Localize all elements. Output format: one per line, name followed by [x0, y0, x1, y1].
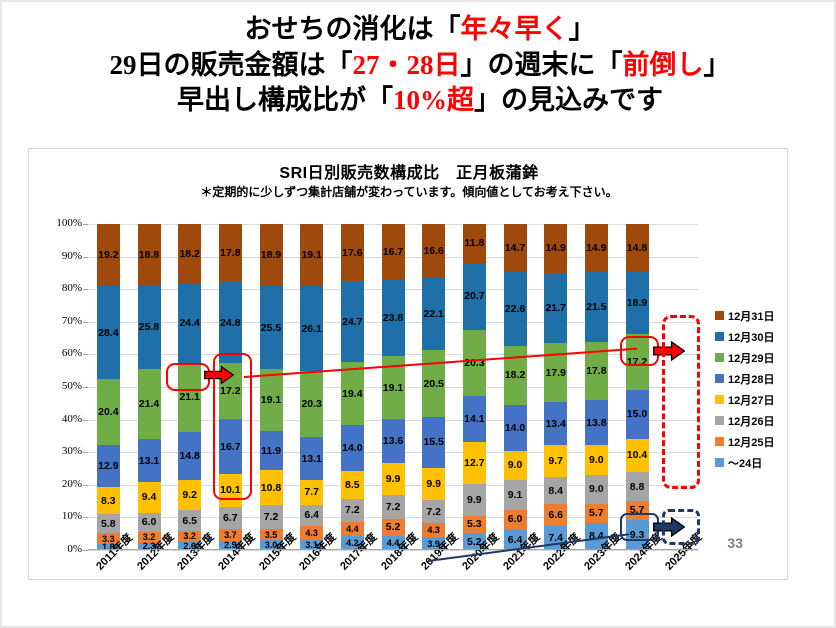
bar-segment: 6.0 — [504, 510, 527, 530]
bar-segment: 5.3 — [463, 516, 486, 533]
legend-item[interactable]: 12月26日 — [715, 410, 789, 431]
bar-segment: 16.7 — [382, 224, 405, 278]
legend-swatch — [715, 311, 724, 320]
bar-segment-value: 24.4 — [179, 317, 199, 329]
bar-segment-value: 6.7 — [223, 512, 238, 524]
bar-segment-value: 6.6 — [548, 509, 563, 521]
bar-segment-value: 10.8 — [261, 482, 281, 494]
bar-segment-value: 12.9 — [98, 460, 118, 472]
bar-segment: 8.4 — [544, 477, 567, 504]
bar-segment: 17.8 — [219, 224, 242, 282]
stacked-bar[interactable]: 18.925.519.111.910.87.23.53.0 — [260, 224, 283, 550]
chart-subtitle: ＊定期的に少しずつ集計店舗が変わっています。傾向値としてお考え下さい。 — [29, 183, 789, 200]
bar-segment-value: 14.9 — [545, 242, 565, 254]
bar-segment: 21.4 — [138, 369, 161, 439]
bar-segment-value: 13.1 — [139, 455, 159, 467]
legend-item[interactable]: 12月30日 — [715, 326, 789, 347]
bar-segment: 14.0 — [341, 425, 364, 471]
bar-segment-value: 9.9 — [426, 478, 441, 490]
bar-segment: 24.8 — [219, 282, 242, 363]
bar-segment-value: 9.4 — [142, 491, 157, 503]
headline-line-1: おせちの消化は「年々早く」 — [2, 12, 836, 48]
bar-segment-value: 19.1 — [301, 249, 321, 261]
bar-segment-value: 10.4 — [627, 449, 647, 461]
y-axis-tick-label: 30% — [36, 445, 82, 457]
bar-segment-value: 16.7 — [383, 246, 403, 258]
bar-segment-value: 14.9 — [586, 242, 606, 254]
stacked-bar[interactable]: 17.624.719.414.08.57.24.44.2 — [341, 224, 364, 550]
bar-segment-value: 9.2 — [182, 489, 197, 501]
bar-segment: 5.7 — [585, 504, 608, 523]
bar-segment-value: 9.9 — [467, 494, 482, 506]
bar-segment-value: 17.8 — [586, 365, 606, 377]
bar-segment: 28.4 — [97, 286, 120, 379]
bar-segment: 22.1 — [422, 278, 445, 350]
bar-segment-value: 7.2 — [264, 511, 279, 523]
bar-segment: 14.9 — [544, 224, 567, 273]
y-axis-tick-mark — [83, 550, 88, 551]
forecast-2025-lower — [662, 509, 700, 544]
y-axis-tick-mark — [83, 224, 88, 225]
headline-line-2-part-a: 29日の販売金額は「 — [110, 50, 353, 80]
bar-segment-value: 9.0 — [589, 454, 604, 466]
bar-segment-value: 19.2 — [98, 249, 118, 261]
bar-segment-value: 14.1 — [464, 413, 484, 425]
legend-swatch — [715, 395, 724, 404]
bar-segment-value: 7.7 — [304, 486, 319, 498]
bar-segment-value: 19.4 — [342, 388, 362, 400]
bar-segment: 15.0 — [626, 390, 649, 439]
legend-label: ～24日 — [728, 455, 762, 471]
bar-segment-value: 7.2 — [345, 504, 360, 516]
headline-line-2-part-e: 」 — [704, 50, 731, 80]
stacked-bar[interactable]: 16.622.120.515.59.97.24.33.9 — [422, 224, 445, 550]
chart-panel: SRI日別販売数構成比 正月板蒲鉾 ＊定期的に少しずつ集計店舗が変わっています。… — [28, 148, 788, 580]
bar-segment: 15.5 — [422, 417, 445, 468]
y-axis-tick-label: 100% — [36, 217, 82, 229]
stacked-bar[interactable]: 14.722.618.214.09.09.16.06.4 — [504, 224, 527, 550]
legend-swatch — [715, 353, 724, 362]
legend-item[interactable]: ～24日 — [715, 452, 789, 473]
headline-line-3-accent: 10%超 — [393, 85, 474, 115]
bar-segment-value: 13.8 — [586, 417, 606, 429]
bar-segment: 13.8 — [585, 400, 608, 445]
headline-line-1-part-a: おせちの消化は「 — [245, 14, 461, 44]
chart-legend: 12月31日12月30日12月29日12月28日12月27日12月26日12月2… — [715, 305, 789, 473]
bar-segment: 8.3 — [97, 487, 120, 514]
y-axis-tick-mark — [83, 354, 88, 355]
stacked-bar[interactable]: 14.921.517.813.89.09.05.78.4 — [585, 224, 608, 550]
bar-segment-value: 6.5 — [182, 515, 197, 527]
stacked-bar[interactable]: 19.228.420.412.98.35.83.31.8 — [97, 224, 120, 550]
legend-swatch — [715, 458, 724, 467]
bar-segment-value: 6.4 — [304, 509, 319, 521]
legend-label: 12月31日 — [728, 308, 774, 324]
bar-segment-value: 18.2 — [179, 248, 199, 260]
bar-segment-value: 9.0 — [508, 459, 523, 471]
bar-segment: 14.8 — [626, 224, 649, 272]
bar-segment: 7.2 — [341, 499, 364, 522]
stacked-bar[interactable]: 19.126.120.313.17.76.44.33.1 — [300, 224, 323, 550]
bar-segment: 4.4 — [341, 522, 364, 536]
bar-segment-value: 20.3 — [301, 398, 321, 410]
bar-segment: 9.0 — [585, 445, 608, 474]
bar-segment: 7.2 — [260, 505, 283, 528]
bar-segment: 14.8 — [178, 432, 201, 480]
bar-segment: 18.2 — [504, 346, 527, 405]
bar-segment: 14.1 — [463, 396, 486, 442]
bar-segment: 6.7 — [219, 507, 242, 529]
bar-segment-value: 17.8 — [220, 247, 240, 259]
bar-segment-value: 9.9 — [386, 473, 401, 485]
bar-segment-value: 15.0 — [627, 408, 647, 420]
chart-plot-area: 0%10%20%30%40%50%60%70%80%90%100%19.228.… — [88, 224, 698, 550]
bar-segment: 9.9 — [382, 463, 405, 495]
bar-segment-value: 24.7 — [342, 316, 362, 328]
bar-segment-value: 6.0 — [508, 513, 523, 525]
page-number: 33 — [727, 535, 743, 551]
bar-segment-value: 21.5 — [586, 301, 606, 313]
bar-segment: 19.4 — [341, 362, 364, 425]
bar-segment: 9.1 — [504, 480, 527, 510]
y-axis-tick-mark — [83, 452, 88, 453]
y-axis-tick-mark — [83, 517, 88, 518]
bar-segment: 7.2 — [422, 500, 445, 523]
bar-segment: 24.7 — [341, 281, 364, 362]
bar-segment-value: 13.4 — [545, 418, 565, 430]
legend-item[interactable]: 12月28日 — [715, 368, 789, 389]
legend-item[interactable]: 12月27日 — [715, 389, 789, 410]
y-axis-tick-label: 20% — [36, 478, 82, 490]
bar-segment: 24.4 — [178, 283, 201, 363]
bar-segment: 9.2 — [178, 480, 201, 510]
bar-segment-value: 19.1 — [261, 394, 281, 406]
headline-line-2-part-c: 」の週末に「 — [461, 50, 623, 80]
bar-segment: 26.1 — [300, 286, 323, 371]
bar-segment-value: 11.8 — [464, 237, 484, 249]
bar-segment: 4.3 — [422, 523, 445, 537]
legend-item[interactable]: 12月31日 — [715, 305, 789, 326]
y-axis-tick-mark — [83, 289, 88, 290]
bar-segment: 5.8 — [97, 514, 120, 533]
bar-segment: 18.9 — [626, 272, 649, 334]
legend-swatch — [715, 332, 724, 341]
slide-root: おせちの消化は「年々早く」 29日の販売金額は「27・28日」の週末に「前倒し」… — [0, 0, 836, 628]
bar-segment: 11.9 — [260, 431, 283, 470]
bar-segment: 13.1 — [300, 437, 323, 480]
bar-segment: 6.5 — [178, 510, 201, 531]
bar-segment: 21.5 — [585, 272, 608, 342]
y-axis-tick-mark — [83, 322, 88, 323]
bar-segment-value: 14.8 — [627, 242, 647, 254]
bar-segment-value: 21.1 — [179, 391, 199, 403]
bar-segment-value: 26.1 — [301, 323, 321, 335]
bar-segment-value: 8.4 — [548, 485, 563, 497]
bar-segment: 21.7 — [544, 273, 567, 344]
bar-segment-value: 20.4 — [98, 406, 118, 418]
headline-line-2-accent-2: 前倒し — [623, 50, 704, 80]
bar-segment: 19.1 — [300, 224, 323, 286]
bar-segment: 25.8 — [138, 285, 161, 369]
bar-segment: 13.6 — [382, 419, 405, 463]
bar-segment: 17.6 — [341, 224, 364, 281]
bar-segment-value: 15.5 — [423, 436, 443, 448]
y-axis-tick-mark — [83, 257, 88, 258]
bar-segment: 9.9 — [422, 468, 445, 500]
bar-segment-value: 5.3 — [467, 518, 482, 530]
legend-label: 12月25日 — [728, 434, 774, 450]
bar-segment-value: 21.4 — [139, 398, 159, 410]
bar-segment: 5.2 — [382, 519, 405, 536]
bar-segment-value: 9.1 — [508, 489, 523, 501]
y-axis-tick-label: 60% — [36, 347, 82, 359]
bar-segment: 18.8 — [138, 224, 161, 285]
bar-segment-value: 8.3 — [101, 495, 116, 507]
headline-line-2: 29日の販売金額は「27・28日」の週末に「前倒し」 — [2, 48, 836, 84]
bar-segment: 12.9 — [97, 445, 120, 487]
bar-segment: 13.4 — [544, 402, 567, 446]
y-axis-tick-mark — [83, 420, 88, 421]
bar-segment-value: 5.7 — [589, 507, 604, 519]
bar-segment: 18.2 — [178, 224, 201, 283]
bar-segment: 6.4 — [300, 505, 323, 526]
bar-segment: 10.4 — [626, 439, 649, 473]
y-axis-tick-label: 0% — [36, 543, 82, 555]
bar-segment-value: 14.8 — [179, 450, 199, 462]
bar-segment: 6.0 — [138, 513, 161, 533]
y-axis-tick-label: 80% — [36, 282, 82, 294]
bar-segment-value: 20.5 — [423, 378, 443, 390]
bar-segment-value: 18.9 — [261, 249, 281, 261]
legend-item[interactable]: 12月25日 — [715, 431, 789, 452]
stacked-bar[interactable]: 16.723.819.113.69.97.25.24.4 — [382, 224, 405, 550]
headline-line-1-part-c: 」 — [569, 14, 596, 44]
y-axis-tick-mark — [83, 387, 88, 388]
y-axis-tick-label: 40% — [36, 413, 82, 425]
stacked-bar[interactable]: 14.818.917.215.010.48.85.79.3 — [626, 224, 649, 550]
x-axis-line — [88, 549, 698, 550]
highlight-2014-group — [213, 353, 252, 500]
bar-segment-value: 3.5 — [265, 530, 278, 540]
bar-segment-value: 12.7 — [464, 457, 484, 469]
bar-segment-value: 22.6 — [505, 303, 525, 315]
forecast-2025-upper — [662, 315, 700, 489]
bar-segment-value: 17.6 — [342, 247, 362, 259]
y-axis-tick-mark — [83, 485, 88, 486]
bar-segment-value: 17.9 — [545, 367, 565, 379]
bar-segment: 20.7 — [463, 263, 486, 330]
headline-line-3: 早出し構成比が「10%超」の見込みです — [2, 83, 836, 119]
bar-segment-value: 5.8 — [101, 518, 116, 530]
bar-segment-value: 13.6 — [383, 435, 403, 447]
bar-segment-value: 6.0 — [142, 516, 157, 528]
bar-segment: 7.7 — [300, 480, 323, 505]
bar-segment: 10.8 — [260, 470, 283, 505]
legend-swatch — [715, 374, 724, 383]
headline-line-2-accent-1: 27・28日 — [353, 50, 461, 80]
bar-segment-value: 8.8 — [630, 481, 645, 493]
bar-segment: 12.7 — [463, 442, 486, 483]
bar-segment: 9.0 — [504, 451, 527, 480]
bar-segment: 9.9 — [463, 484, 486, 516]
headline-line-3-part-a: 早出し構成比が「 — [177, 85, 393, 115]
bar-segment: 11.8 — [463, 224, 486, 262]
bar-segment: 22.6 — [504, 272, 527, 346]
bar-segment-value: 19.1 — [383, 382, 403, 394]
bar-segment-value: 13.1 — [301, 453, 321, 465]
bar-segment-value: 7.2 — [426, 506, 441, 518]
bar-segment: 14.9 — [585, 224, 608, 273]
bar-segment: 8.8 — [626, 472, 649, 501]
y-axis-tick-label: 90% — [36, 250, 82, 262]
bar-segment: 19.2 — [97, 224, 120, 287]
bar-segment-value: 14.0 — [505, 422, 525, 434]
bar-segment: 8.5 — [341, 471, 364, 499]
bar-segment-value: 14.7 — [505, 242, 525, 254]
bar-segment: 23.8 — [382, 279, 405, 357]
bar-segment-value: 4.4 — [346, 524, 359, 534]
legend-label: 12月26日 — [728, 413, 774, 429]
bar-segment: 20.3 — [300, 371, 323, 437]
bar-segment-value: 16.6 — [423, 245, 443, 257]
stacked-bar[interactable]: 14.921.717.913.49.78.46.67.4 — [544, 224, 567, 550]
bar-segment-value: 4.3 — [305, 528, 318, 538]
bar-segment: 19.1 — [260, 369, 283, 431]
bar-segment: 9.0 — [585, 475, 608, 504]
bar-segment-value: 4.3 — [427, 525, 440, 535]
bar-segment-value: 18.9 — [627, 297, 647, 309]
bar-segment: 9.4 — [138, 482, 161, 513]
bar-segment-value: 7.2 — [386, 501, 401, 513]
bar-segment-value: 9.0 — [589, 483, 604, 495]
stacked-bar[interactable]: 18.825.821.413.19.46.03.22.3 — [138, 224, 161, 550]
bar-segment: 9.7 — [544, 445, 567, 477]
bar-segment: 20.5 — [422, 350, 445, 417]
bar-segment-value: 18.2 — [505, 369, 525, 381]
y-axis-tick-label: 50% — [36, 380, 82, 392]
bar-segment-value: 14.0 — [342, 442, 362, 454]
bar-segment-value: 3.7 — [224, 530, 237, 540]
bar-segment-value: 25.8 — [139, 321, 159, 333]
bar-segment-value: 22.1 — [423, 308, 443, 320]
legend-item[interactable]: 12月29日 — [715, 347, 789, 368]
legend-swatch — [715, 416, 724, 425]
bar-segment-value: 9.7 — [548, 455, 563, 467]
chart-title: SRI日別販売数構成比 正月板蒲鉾 — [29, 159, 789, 183]
bar-segment-value: 21.7 — [545, 302, 565, 314]
headline-line-3-part-c: 」の見込みです — [474, 85, 663, 115]
bar-segment-value: 11.9 — [261, 445, 281, 457]
bar-segment-value: 8.5 — [345, 479, 360, 491]
slide-headline: おせちの消化は「年々早く」 29日の販売金額は「27・28日」の週末に「前倒し」… — [2, 12, 836, 119]
bar-segment: 14.7 — [504, 224, 527, 272]
legend-swatch — [715, 437, 724, 446]
legend-label: 12月28日 — [728, 371, 774, 387]
legend-label: 12月30日 — [728, 329, 774, 345]
bar-segment-value: 20.7 — [464, 290, 484, 302]
bar-segment: 7.2 — [382, 495, 405, 518]
bar-segment: 6.6 — [544, 504, 567, 526]
bar-segment: 20.3 — [463, 330, 486, 396]
bar-segment: 25.5 — [260, 286, 283, 369]
bar-segment-value: 25.5 — [261, 322, 281, 334]
stacked-bar[interactable]: 11.820.720.314.112.79.95.35.2 — [463, 224, 486, 550]
legend-label: 12月27日 — [728, 392, 774, 408]
bar-segment: 13.1 — [138, 439, 161, 482]
bar-segment-value: 18.8 — [139, 249, 159, 261]
bar-segment: 18.9 — [260, 224, 283, 286]
y-axis-tick-label: 10% — [36, 510, 82, 522]
legend-label: 12月29日 — [728, 350, 774, 366]
bar-segment-value: 28.4 — [98, 327, 118, 339]
y-axis-tick-label: 70% — [36, 315, 82, 327]
bar-segment: 20.4 — [97, 379, 120, 446]
headline-line-1-accent: 年々早く — [461, 14, 569, 44]
bar-segment-value: 24.8 — [220, 317, 240, 329]
bar-segment: 16.6 — [422, 224, 445, 278]
bar-segment-value: 5.2 — [386, 521, 401, 533]
bar-segment: 14.0 — [504, 405, 527, 451]
bar-segment-value: 23.8 — [383, 312, 403, 324]
